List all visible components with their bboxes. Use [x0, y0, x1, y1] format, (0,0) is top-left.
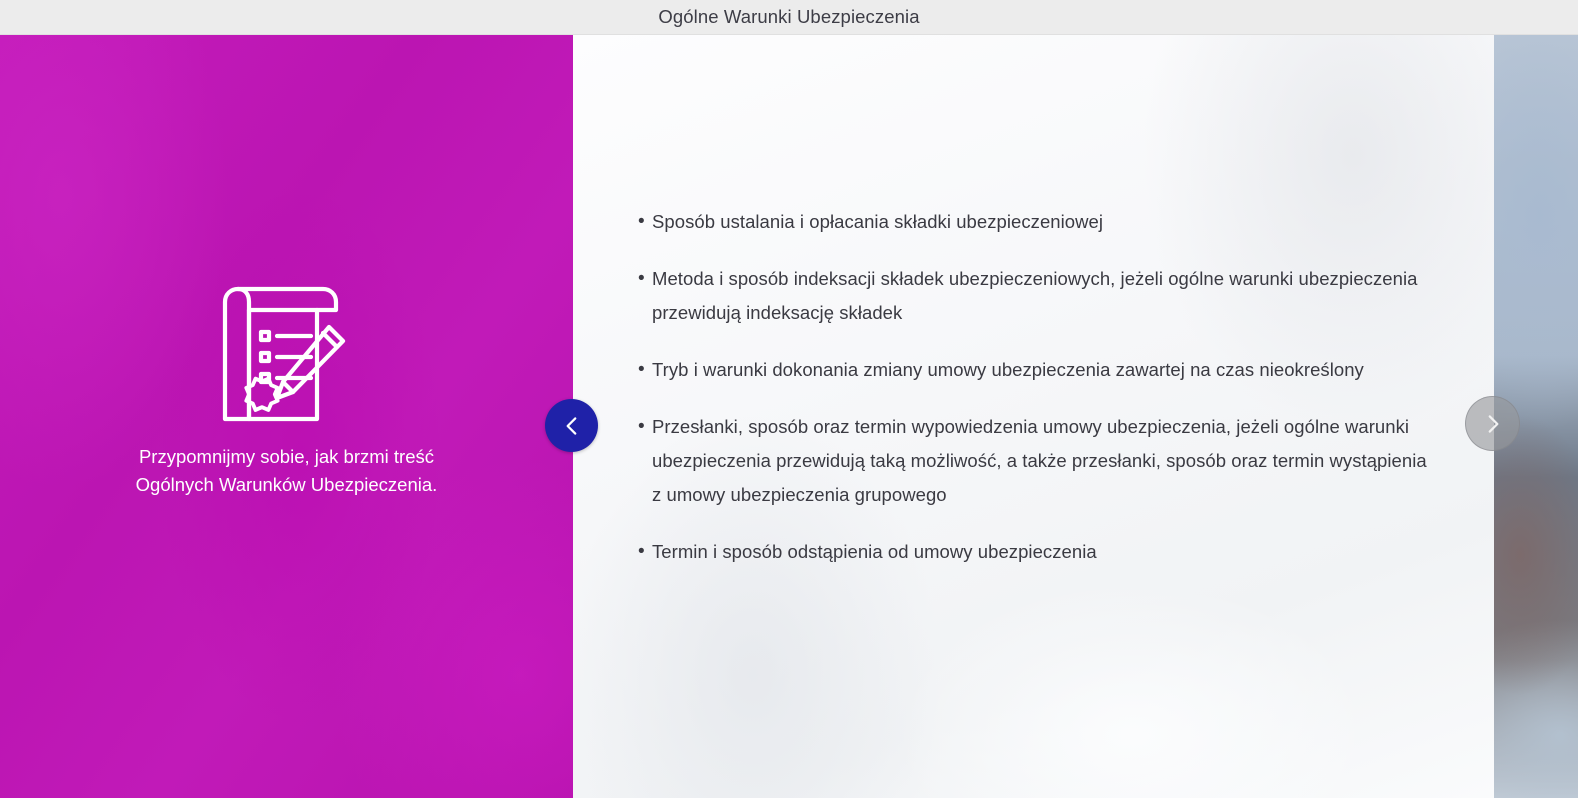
previous-slide-button[interactable] [545, 399, 598, 452]
list-item: • Termin i sposób odstąpienia od umowy u… [638, 535, 1428, 569]
slide-title-bar: Ogólne Warunki Ubezpieczenia [0, 0, 1578, 35]
caption-line-1: Przypomnijmy sobie, jak brzmi treść [40, 443, 533, 471]
list-item: • Przesłanki, sposób oraz termin wypowie… [638, 410, 1428, 512]
page-title: Ogólne Warunki Ubezpieczenia [658, 6, 919, 28]
slide-viewer: Ogólne Warunki Ubezpieczenia [0, 0, 1578, 798]
bullet-list: • Sposób ustalania i opłacania składki u… [638, 205, 1428, 592]
bullet-text: Metoda i sposób indeksacji składek ubezp… [652, 262, 1428, 330]
bullet-text: Termin i sposób odstąpienia od umowy ube… [652, 535, 1428, 569]
list-item: • Metoda i sposób indeksacji składek ube… [638, 262, 1428, 330]
bullet-marker: • [638, 353, 652, 387]
list-item: • Sposób ustalania i opłacania składki u… [638, 205, 1428, 239]
bullet-text: Tryb i warunki dokonania zmiany umowy ub… [652, 353, 1428, 387]
next-slide-button[interactable] [1465, 396, 1520, 451]
list-item: • Tryb i warunki dokonania zmiany umowy … [638, 353, 1428, 387]
bullet-marker: • [638, 205, 652, 239]
slide-stage: Przypomnijmy sobie, jak brzmi treść Ogól… [0, 35, 1578, 798]
content-panel: • Sposób ustalania i opłacania składki u… [573, 35, 1494, 798]
bullet-marker: • [638, 262, 652, 296]
left-panel-caption: Przypomnijmy sobie, jak brzmi treść Ogól… [0, 443, 573, 499]
chevron-right-icon [1480, 411, 1506, 437]
bullet-text: Przesłanki, sposób oraz termin wypowiedz… [652, 410, 1428, 512]
left-highlight-panel: Przypomnijmy sobie, jak brzmi treść Ogól… [0, 35, 573, 798]
bullet-marker: • [638, 535, 652, 569]
document-with-pen-icon [213, 281, 353, 426]
bullet-text: Sposób ustalania i opłacania składki ube… [652, 205, 1428, 239]
caption-line-2: Ogólnych Warunków Ubezpieczenia. [40, 471, 533, 499]
chevron-left-icon [559, 413, 585, 439]
bullet-marker: • [638, 410, 652, 444]
